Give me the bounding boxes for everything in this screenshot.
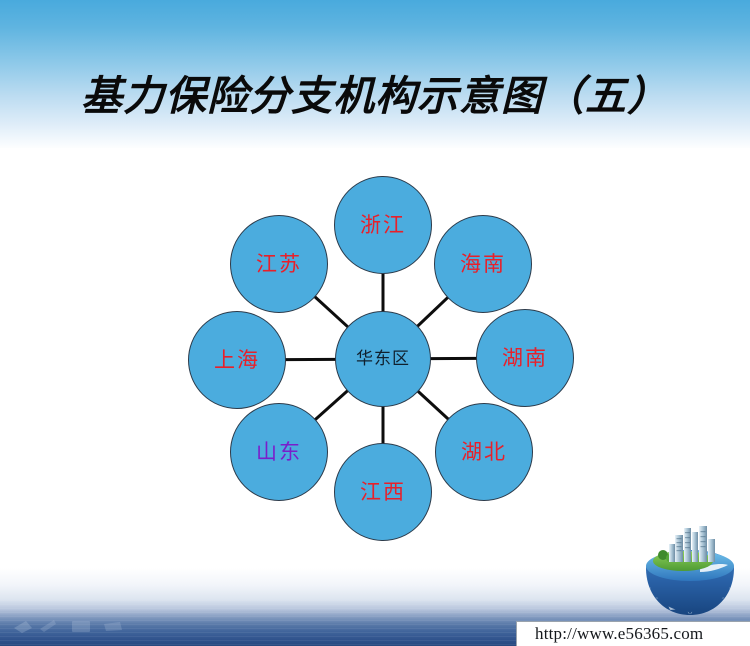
diagram-center-node[interactable]: 华东区 [335, 311, 431, 407]
globe-city-logo [636, 522, 744, 618]
footer-url-plate: http://www.e56365.com [516, 621, 750, 646]
slide-canvas: 基力保险分支机构示意图（五） 华东区 浙江海南湖南湖北江西山东上海江苏 [0, 0, 750, 646]
diagram-spoke-line [418, 391, 449, 420]
diagram-branch-node[interactable]: 湖南 [476, 309, 574, 407]
diagram-branch-node-label: 湖北 [461, 442, 507, 463]
diagram-branch-node[interactable]: 江苏 [230, 215, 328, 313]
diagram-center-node-label: 华东区 [356, 351, 410, 368]
diagram-branch-node[interactable]: 海南 [434, 215, 532, 313]
diagram-branch-node-label: 湖南 [502, 348, 548, 369]
diagram-branch-node[interactable]: 江西 [334, 443, 432, 541]
diagram-branch-node[interactable]: 湖北 [435, 403, 533, 501]
diagram-branch-node-label: 上海 [214, 350, 260, 371]
diagram-spoke-line [314, 296, 348, 327]
diagram-branch-node-label: 江苏 [256, 254, 302, 275]
diagram-branch-node[interactable]: 浙江 [334, 176, 432, 274]
diagram-spoke-line [315, 390, 348, 420]
diagram-branch-node-label: 海南 [460, 254, 506, 275]
diagram-spoke-line [417, 297, 448, 327]
diagram-branch-node[interactable]: 山东 [230, 403, 328, 501]
diagram-branch-node[interactable]: 上海 [188, 311, 286, 409]
diagram-branch-node-label: 江西 [360, 482, 406, 503]
diagram-branch-node-label: 山东 [256, 442, 302, 463]
footer-url-text[interactable]: http://www.e56365.com [535, 624, 703, 644]
diagram-branch-node-label: 浙江 [360, 215, 406, 236]
